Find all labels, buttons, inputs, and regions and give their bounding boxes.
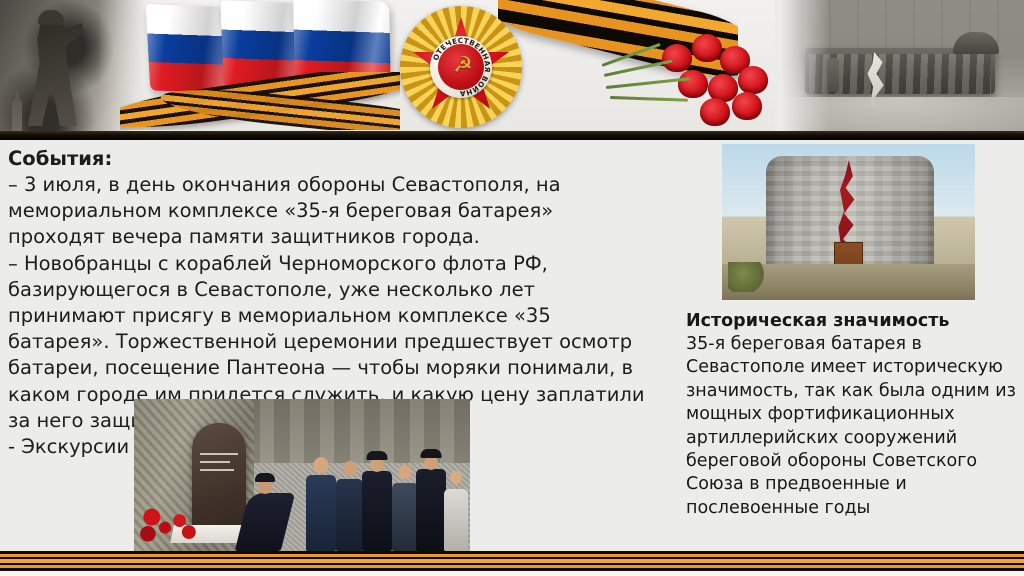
- st-george-ribbon-icon: [120, 72, 400, 130]
- ceremony-attendee: [306, 455, 336, 551]
- ceremony-sailor: [416, 449, 446, 551]
- presentation-slide: ОТЕЧЕСТВЕННАЯ ВОЙНА ☭: [0, 0, 1024, 576]
- person-body: [444, 489, 468, 551]
- st-george-ribbon-bottom: [0, 551, 1024, 571]
- order-of-patriotic-war-icon: ОТЕЧЕСТВЕННАЯ ВОЙНА ☭: [400, 6, 522, 128]
- kremlin-tower-icon: [8, 86, 26, 131]
- ceremony-sailor: [362, 451, 392, 551]
- banner-bottom-border: [0, 131, 1024, 140]
- carnation: [662, 44, 692, 72]
- soldier-helmet: [38, 10, 64, 25]
- person-head: [399, 465, 412, 479]
- historical-significance-heading: Историческая значимость: [686, 310, 1018, 333]
- historical-significance-block: Историческая значимость 35-я береговая б…: [686, 310, 1018, 520]
- carnations-icon: [600, 30, 800, 130]
- tomb-photo-fade: [775, 0, 829, 131]
- carnation: [738, 66, 768, 94]
- ceremony-attendee: [336, 459, 363, 551]
- slide-bottom-strip: [0, 571, 1024, 576]
- person-body: [306, 475, 336, 551]
- person-head: [343, 461, 357, 476]
- carnation: [692, 34, 722, 62]
- person-body: [392, 483, 418, 551]
- person-body: [362, 471, 392, 551]
- ceremony-attendee: [444, 469, 468, 551]
- person-cap: [421, 449, 442, 458]
- events-heading: События:: [8, 146, 648, 172]
- flower-stem: [610, 96, 688, 102]
- events-paragraph-1: – 3 июля, в день окончания обороны Севас…: [8, 172, 648, 251]
- victory-day-banner: ОТЕЧЕСТВЕННАЯ ВОЙНА ☭: [0, 0, 1024, 131]
- hammer-and-sickle-icon: ☭: [452, 54, 474, 78]
- person-body: [336, 479, 363, 551]
- historical-significance-body: 35-я береговая батарея в Севастополе име…: [686, 333, 1018, 520]
- ceremony-photo: [134, 399, 470, 553]
- carnation: [700, 98, 730, 126]
- person-head: [450, 471, 462, 484]
- person-head: [314, 457, 329, 473]
- pantheon-bush: [728, 262, 766, 292]
- person-body: [416, 469, 446, 551]
- pantheon-photo: [722, 144, 975, 300]
- person-cap: [367, 451, 388, 460]
- carnation: [678, 70, 708, 98]
- person-body: [235, 493, 295, 551]
- tomb-of-unknown-soldier-photo: [775, 0, 1024, 131]
- ceremony-attendee: [392, 463, 418, 551]
- soldier-figure: [24, 14, 84, 126]
- kneeling-sailor: [242, 473, 288, 551]
- ceremony-flowers: [136, 503, 202, 547]
- carnation: [732, 92, 762, 120]
- person-cap: [255, 473, 275, 482]
